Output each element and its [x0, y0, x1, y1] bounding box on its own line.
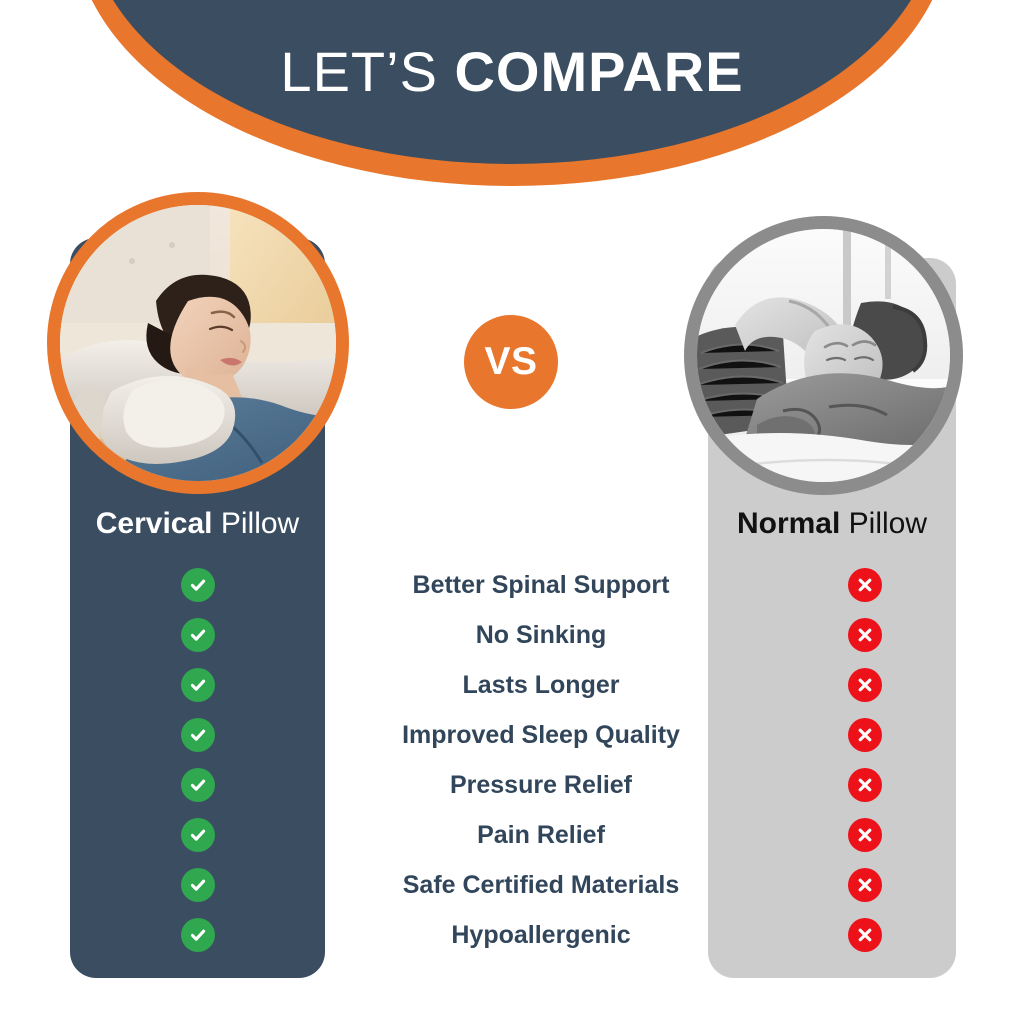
feature-label: Pain Relief	[341, 821, 741, 850]
cervical-pillow-photo-inner	[60, 205, 336, 481]
feature-label: Pressure Relief	[341, 771, 741, 800]
right-mark-cell	[741, 818, 989, 852]
feature-label: Hypoallergenic	[341, 921, 741, 950]
right-mark-cell	[741, 768, 989, 802]
check-icon	[181, 718, 215, 752]
normal-pillow-photo	[684, 216, 963, 495]
feature-row: Pressure Relief	[0, 760, 1024, 810]
right-column-title-light: Pillow	[849, 507, 927, 540]
page-title-bold: COMPARE	[454, 40, 743, 103]
cross-icon	[848, 568, 882, 602]
right-mark-cell	[741, 618, 989, 652]
check-icon	[181, 768, 215, 802]
feature-label: Improved Sleep Quality	[341, 721, 741, 750]
comparison-infographic: LET’S COMPARE	[0, 0, 1024, 1024]
right-mark-cell	[741, 918, 989, 952]
cross-icon	[848, 918, 882, 952]
left-mark-cell	[70, 768, 325, 802]
check-icon	[181, 918, 215, 952]
cervical-pillow-illustration	[60, 205, 336, 481]
left-column-title-light: Pillow	[221, 507, 299, 540]
feature-row: Hypoallergenic	[0, 910, 1024, 960]
left-mark-cell	[70, 818, 325, 852]
right-mark-cell	[741, 718, 989, 752]
feature-label: No Sinking	[341, 621, 741, 650]
normal-pillow-illustration	[697, 229, 950, 482]
vs-badge: VS	[464, 315, 558, 409]
cross-icon	[848, 868, 882, 902]
vs-badge-label: VS	[484, 340, 537, 384]
feature-label: Lasts Longer	[341, 671, 741, 700]
left-column-title: Cervical Pillow	[70, 506, 325, 542]
cross-icon	[848, 718, 882, 752]
check-icon	[181, 818, 215, 852]
left-mark-cell	[70, 868, 325, 902]
right-mark-cell	[741, 668, 989, 702]
feature-label: Better Spinal Support	[341, 571, 741, 600]
feature-comparison-list: Better Spinal SupportNo SinkingLasts Lon…	[0, 560, 1024, 960]
normal-pillow-photo-inner	[697, 229, 950, 482]
right-mark-cell	[741, 568, 989, 602]
feature-row: Pain Relief	[0, 810, 1024, 860]
feature-row: Lasts Longer	[0, 660, 1024, 710]
cross-icon	[848, 618, 882, 652]
check-icon	[181, 618, 215, 652]
feature-label: Safe Certified Materials	[341, 871, 741, 900]
feature-row: No Sinking	[0, 610, 1024, 660]
cross-icon	[848, 768, 882, 802]
left-mark-cell	[70, 668, 325, 702]
left-mark-cell	[70, 618, 325, 652]
right-column-title: Normal Pillow	[708, 506, 956, 542]
left-column-title-bold: Cervical	[96, 507, 213, 540]
cervical-pillow-photo	[47, 192, 349, 494]
check-icon	[181, 668, 215, 702]
cross-icon	[848, 818, 882, 852]
right-mark-cell	[741, 868, 989, 902]
feature-row: Better Spinal Support	[0, 560, 1024, 610]
right-column-title-bold: Normal	[737, 507, 840, 540]
left-mark-cell	[70, 568, 325, 602]
check-icon	[181, 868, 215, 902]
cross-icon	[848, 668, 882, 702]
left-mark-cell	[70, 918, 325, 952]
left-mark-cell	[70, 718, 325, 752]
page-title-light: LET’S	[280, 40, 438, 103]
feature-row: Improved Sleep Quality	[0, 710, 1024, 760]
page-title: LET’S COMPARE	[0, 40, 1024, 104]
check-icon	[181, 568, 215, 602]
feature-row: Safe Certified Materials	[0, 860, 1024, 910]
